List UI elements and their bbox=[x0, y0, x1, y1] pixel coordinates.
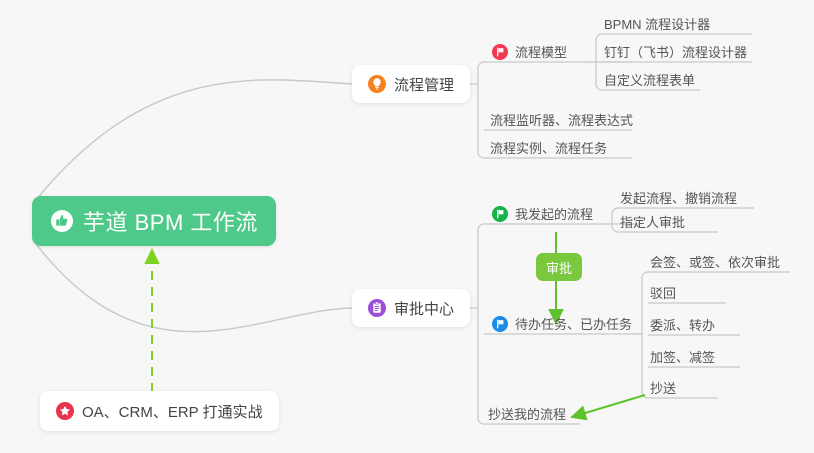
leaf-add-remove-sign[interactable]: 加签、减签 bbox=[650, 347, 715, 366]
branch-label-process-management: 流程管理 bbox=[394, 74, 454, 95]
leaf-label-carbon-copy: 抄送 bbox=[650, 378, 676, 397]
leaf-label-countersign-orsign-sequential: 会签、或签、依次审批 bbox=[650, 252, 780, 271]
leaf-assignee-approval[interactable]: 指定人审批 bbox=[620, 212, 685, 231]
leaf-custom-process-form[interactable]: 自定义流程表单 bbox=[604, 70, 695, 89]
mindmap-canvas: 芋道 BPM 工作流 流程管理 流程模型 BPMN 流程设计器 钉钉（飞书 bbox=[0, 0, 814, 453]
node-label-todo-done-tasks: 待办任务、已办任务 bbox=[515, 314, 632, 333]
wire-pm-bracket bbox=[478, 62, 484, 158]
leaf-delegate-transfer[interactable]: 委派、转办 bbox=[650, 315, 715, 334]
wire-todo-bracket bbox=[642, 272, 648, 398]
flag-blue-icon bbox=[492, 316, 508, 332]
node-label-process-model: 流程模型 bbox=[515, 42, 567, 61]
wire-model-bracket bbox=[596, 34, 602, 90]
wire-root-to-process-management bbox=[36, 80, 352, 200]
branch-node-process-management[interactable]: 流程管理 bbox=[352, 65, 470, 103]
clipboard-icon bbox=[368, 299, 386, 317]
root-label: 芋道 BPM 工作流 bbox=[83, 205, 258, 237]
footer-label-integration: OA、CRM、ERP 打通实战 bbox=[82, 401, 263, 422]
wire-initiated-bracket bbox=[612, 208, 618, 232]
lightbulb-icon bbox=[368, 75, 386, 93]
leaf-label-start-cancel-process: 发起流程、撤销流程 bbox=[620, 188, 737, 207]
node-process-listener[interactable]: 流程监听器、流程表达式 bbox=[490, 110, 633, 129]
node-label-my-initiated-process: 我发起的流程 bbox=[515, 204, 593, 223]
wire-ac-bracket bbox=[478, 224, 484, 424]
leaf-label-assignee-approval: 指定人审批 bbox=[620, 212, 685, 231]
star-icon bbox=[56, 402, 74, 420]
node-label-process-instance-task: 流程实例、流程任务 bbox=[490, 138, 607, 157]
leaf-start-cancel-process[interactable]: 发起流程、撤销流程 bbox=[620, 188, 737, 207]
leaf-bpmn-designer[interactable]: BPMN 流程设计器 bbox=[604, 14, 710, 33]
flag-green-icon bbox=[492, 206, 508, 222]
approval-annotation-chip: 审批 bbox=[536, 253, 582, 281]
leaf-label-dingtalk-feishu-designer: 钉钉（飞书）流程设计器 bbox=[604, 42, 747, 61]
branch-node-approval-center[interactable]: 审批中心 bbox=[352, 289, 470, 327]
node-label-process-listener: 流程监听器、流程表达式 bbox=[490, 110, 633, 129]
leaf-label-delegate-transfer: 委派、转办 bbox=[650, 315, 715, 334]
node-todo-done-tasks[interactable]: 待办任务、已办任务 bbox=[492, 314, 632, 333]
leaf-label-add-remove-sign: 加签、减签 bbox=[650, 347, 715, 366]
branch-label-approval-center: 审批中心 bbox=[394, 298, 454, 319]
leaf-countersign-orsign-sequential[interactable]: 会签、或签、依次审批 bbox=[650, 252, 780, 271]
node-cc-my-process[interactable]: 抄送我的流程 bbox=[488, 404, 566, 423]
leaf-label-custom-process-form: 自定义流程表单 bbox=[604, 70, 695, 89]
node-process-model[interactable]: 流程模型 bbox=[492, 42, 567, 61]
flag-red-icon bbox=[492, 44, 508, 60]
leaf-label-reject: 驳回 bbox=[650, 283, 676, 302]
leaf-label-bpmn-designer: BPMN 流程设计器 bbox=[604, 14, 710, 33]
thumbs-up-icon bbox=[50, 209, 74, 233]
wire-root-to-approval-center bbox=[36, 244, 352, 332]
node-process-instance-task[interactable]: 流程实例、流程任务 bbox=[490, 138, 607, 157]
footer-node-integration[interactable]: OA、CRM、ERP 打通实战 bbox=[40, 391, 279, 431]
arrow-cc-to-cc-my-process bbox=[572, 395, 645, 417]
approval-annotation-label: 审批 bbox=[546, 258, 572, 277]
node-label-cc-my-process: 抄送我的流程 bbox=[488, 404, 566, 423]
leaf-carbon-copy[interactable]: 抄送 bbox=[650, 378, 676, 397]
node-my-initiated-process[interactable]: 我发起的流程 bbox=[492, 204, 593, 223]
root-node[interactable]: 芋道 BPM 工作流 bbox=[32, 196, 276, 246]
leaf-dingtalk-feishu-designer[interactable]: 钉钉（飞书）流程设计器 bbox=[604, 42, 747, 61]
leaf-reject[interactable]: 驳回 bbox=[650, 283, 676, 302]
